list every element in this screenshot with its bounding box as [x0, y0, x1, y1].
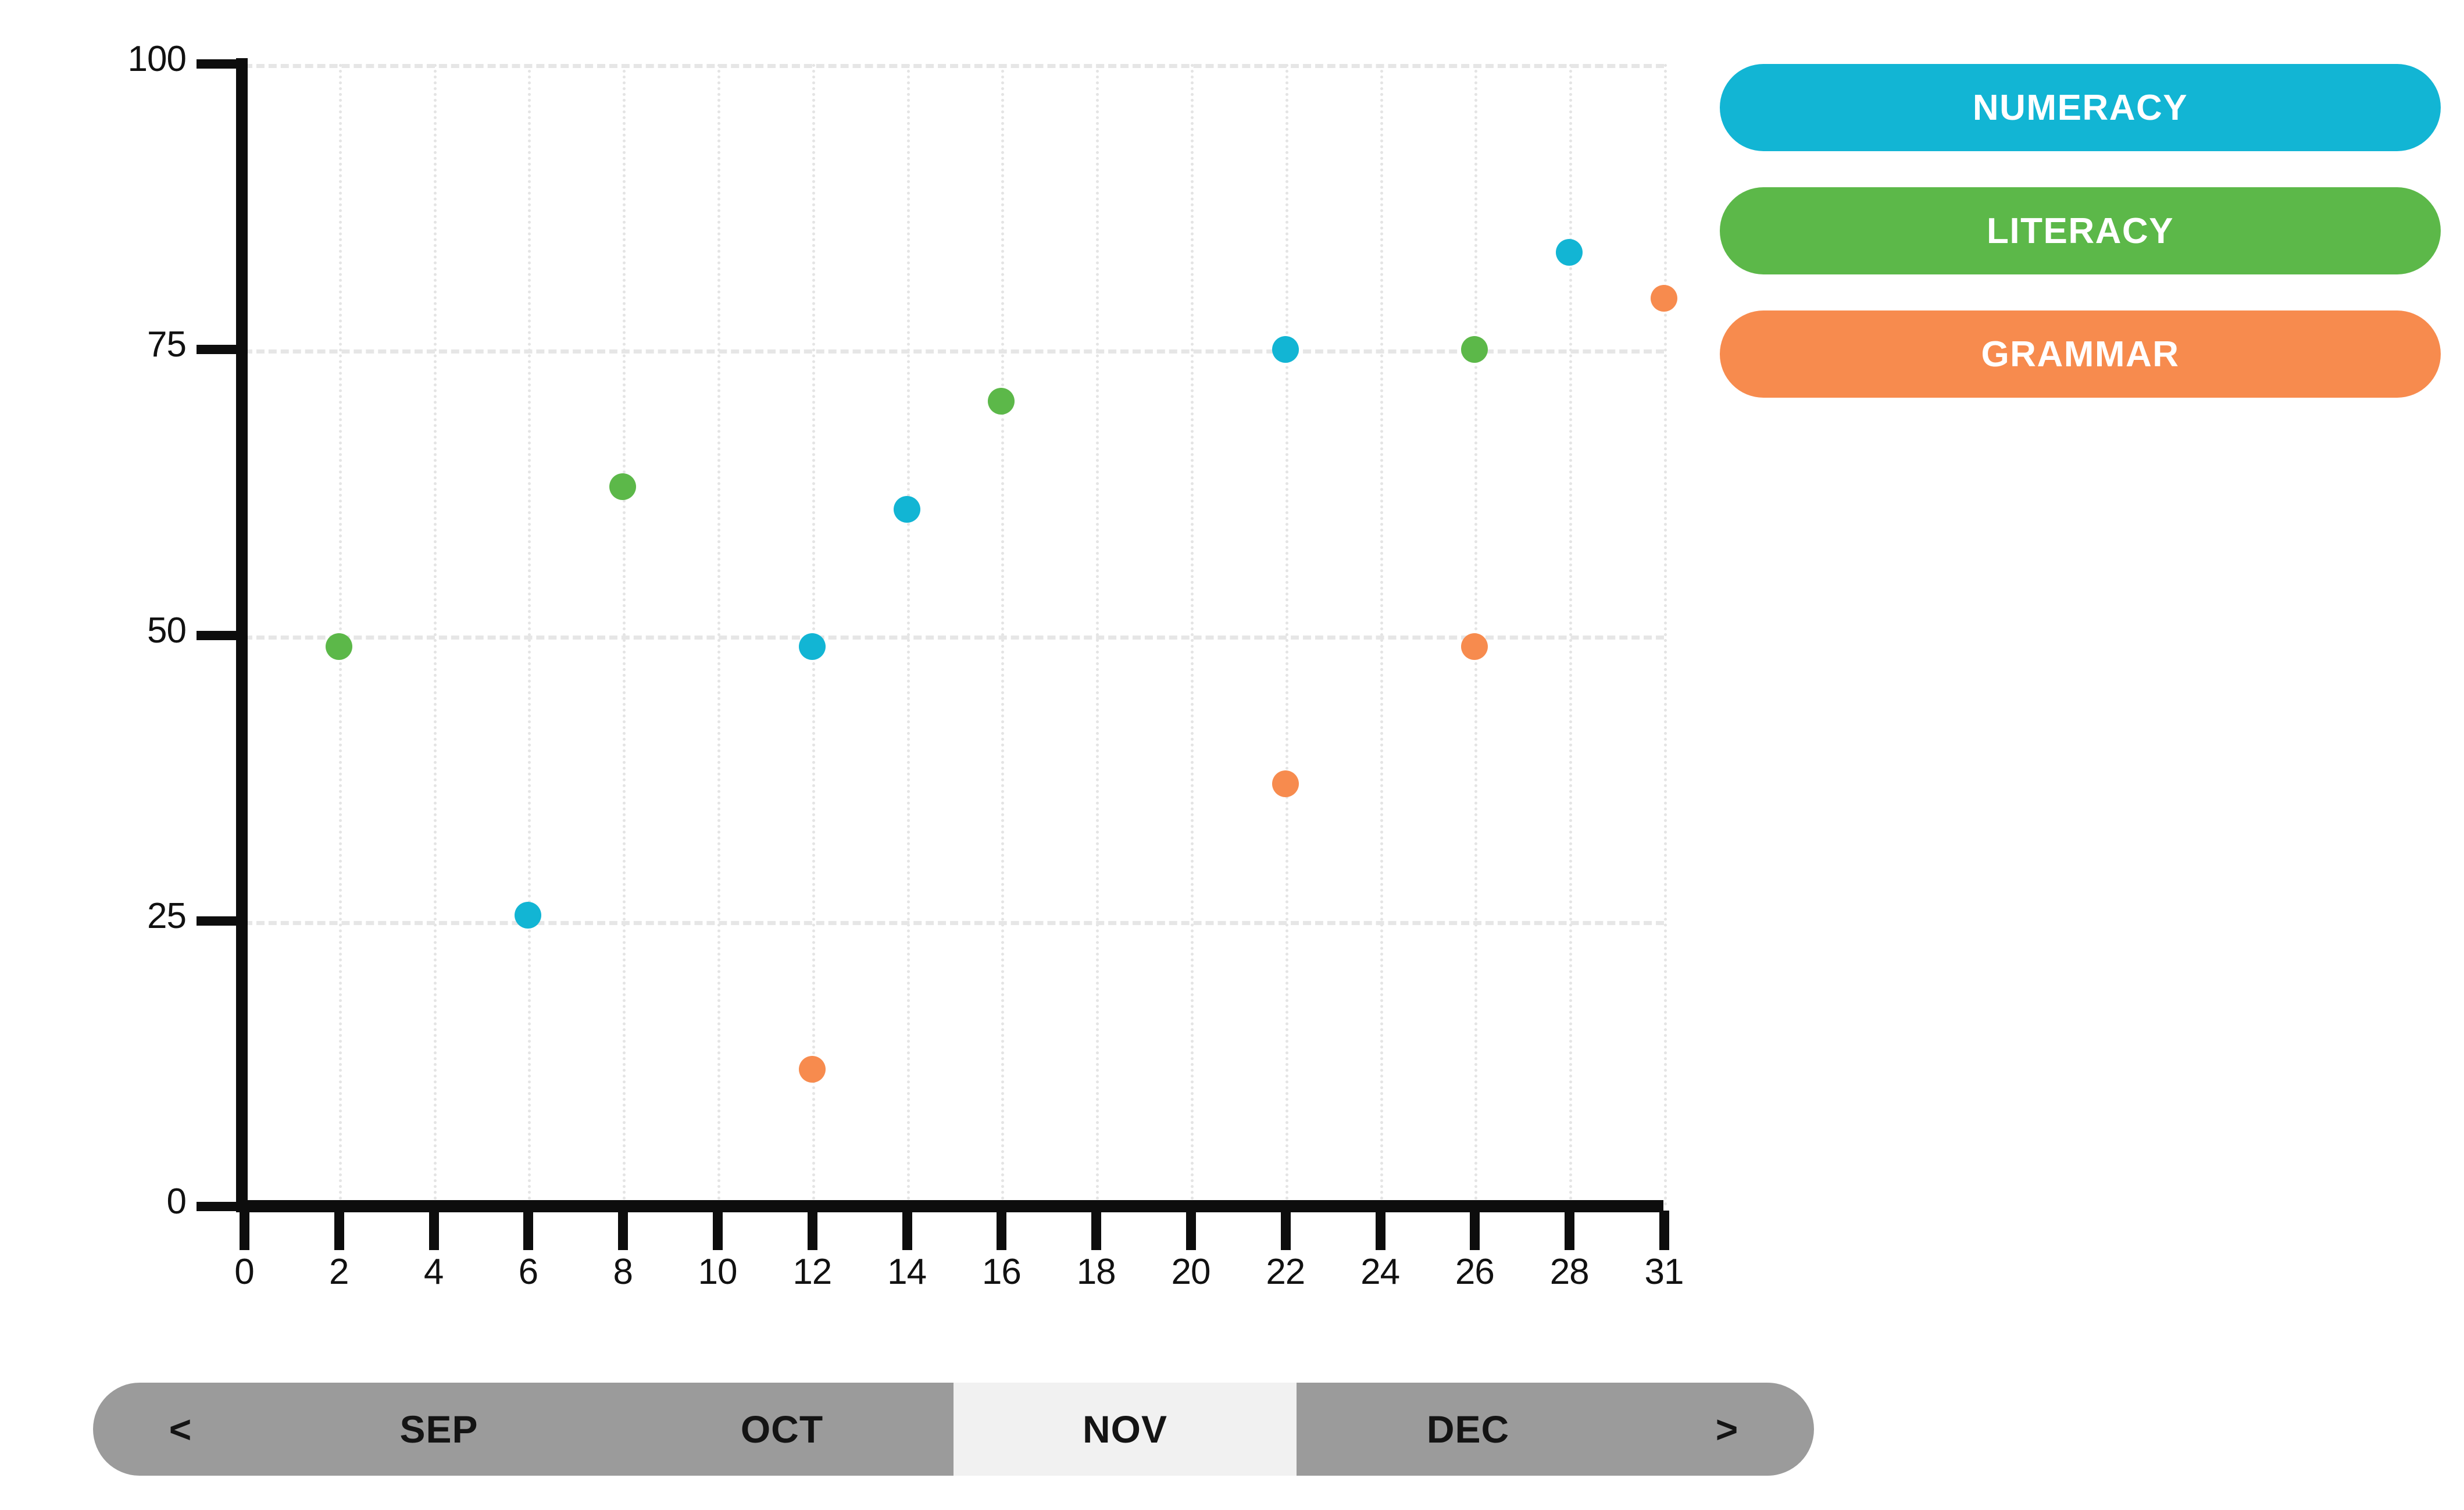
x-tick-mark — [240, 1211, 249, 1250]
month-tab-oct[interactable]: OCT — [610, 1383, 954, 1476]
x-tick-mark — [523, 1211, 533, 1250]
month-cells: SEPOCTNOVDEC — [267, 1383, 1640, 1476]
gridline-vertical — [1664, 64, 1667, 1206]
data-point[interactable] — [1461, 633, 1488, 660]
x-axis-line — [236, 1200, 1663, 1212]
plot-area — [244, 64, 1664, 1206]
data-point[interactable] — [326, 633, 352, 660]
x-tick-label: 12 — [792, 1251, 831, 1293]
x-tick-label: 26 — [1455, 1251, 1494, 1293]
gridline-horizontal — [244, 921, 1664, 925]
x-tick-label: 10 — [698, 1251, 737, 1293]
data-point[interactable] — [515, 902, 541, 929]
legend-button-grammar[interactable]: GRAMMAR — [1720, 310, 2441, 398]
x-tick-label: 16 — [982, 1251, 1021, 1293]
legend-button-literacy[interactable]: LITERACY — [1720, 187, 2441, 274]
x-tick-mark — [808, 1211, 817, 1250]
month-navigation-bar[interactable]: < SEPOCTNOVDEC > — [93, 1383, 1814, 1476]
gridline-horizontal — [244, 64, 1664, 68]
x-tick-label: 22 — [1266, 1251, 1305, 1293]
x-tick-mark — [997, 1211, 1006, 1250]
data-point[interactable] — [894, 496, 920, 523]
x-tick-mark — [1565, 1211, 1574, 1250]
legend-button-numeracy[interactable]: NUMERACY — [1720, 64, 2441, 151]
data-point[interactable] — [988, 388, 1015, 415]
x-tick-mark — [713, 1211, 723, 1250]
x-tick-label: 14 — [887, 1251, 926, 1293]
data-point[interactable] — [1272, 336, 1299, 363]
x-tick-label: 31 — [1645, 1251, 1684, 1293]
x-tick-label: 2 — [329, 1251, 348, 1293]
x-tick-mark — [1376, 1211, 1385, 1250]
y-tick-mark — [197, 631, 237, 640]
series-legend: NUMERACYLITERACYGRAMMAR — [1720, 64, 2441, 434]
x-tick-label: 8 — [613, 1251, 632, 1293]
x-tick-mark — [1091, 1211, 1101, 1250]
x-tick-mark — [1281, 1211, 1291, 1250]
x-tick-label: 28 — [1550, 1251, 1589, 1293]
x-tick-mark — [618, 1211, 628, 1250]
x-tick-label: 4 — [424, 1251, 443, 1293]
data-point[interactable] — [1272, 770, 1299, 797]
x-tick-label: 6 — [519, 1251, 538, 1293]
month-tab-dec[interactable]: DEC — [1297, 1383, 1640, 1476]
gridline-horizontal — [244, 349, 1664, 354]
x-tick-mark — [1659, 1211, 1669, 1250]
data-point[interactable] — [799, 1056, 826, 1083]
x-tick-label: 0 — [234, 1251, 253, 1293]
x-tick-mark — [334, 1211, 344, 1250]
prev-month-button[interactable]: < — [93, 1383, 267, 1476]
y-tick-mark — [197, 59, 237, 69]
x-tick-mark — [429, 1211, 439, 1250]
y-tick-label: 50 — [0, 610, 186, 651]
data-point[interactable] — [799, 633, 826, 660]
y-tick-label: 0 — [0, 1181, 186, 1222]
data-point[interactable] — [609, 473, 636, 500]
scatter-chart: 0255075100 024681012141618202224262831 — [0, 0, 1686, 1337]
y-tick-label: 75 — [0, 324, 186, 365]
y-tick-label: 100 — [0, 38, 186, 80]
data-point[interactable] — [1556, 239, 1583, 266]
x-tick-mark — [902, 1211, 912, 1250]
y-axis-line — [236, 58, 248, 1212]
x-tick-mark — [1470, 1211, 1480, 1250]
gridline-horizontal — [244, 636, 1664, 640]
x-tick-label: 24 — [1360, 1251, 1399, 1293]
y-tick-label: 25 — [0, 895, 186, 937]
y-tick-mark — [197, 916, 237, 926]
data-point[interactable] — [1651, 285, 1677, 312]
data-point[interactable] — [1461, 336, 1488, 363]
x-tick-mark — [1186, 1211, 1196, 1250]
next-month-button[interactable]: > — [1640, 1383, 1814, 1476]
month-tab-sep[interactable]: SEP — [267, 1383, 610, 1476]
x-tick-label: 18 — [1077, 1251, 1116, 1293]
month-tab-nov[interactable]: NOV — [954, 1383, 1297, 1476]
y-tick-mark — [197, 345, 237, 354]
y-tick-mark — [197, 1202, 237, 1211]
x-tick-label: 20 — [1172, 1251, 1210, 1293]
